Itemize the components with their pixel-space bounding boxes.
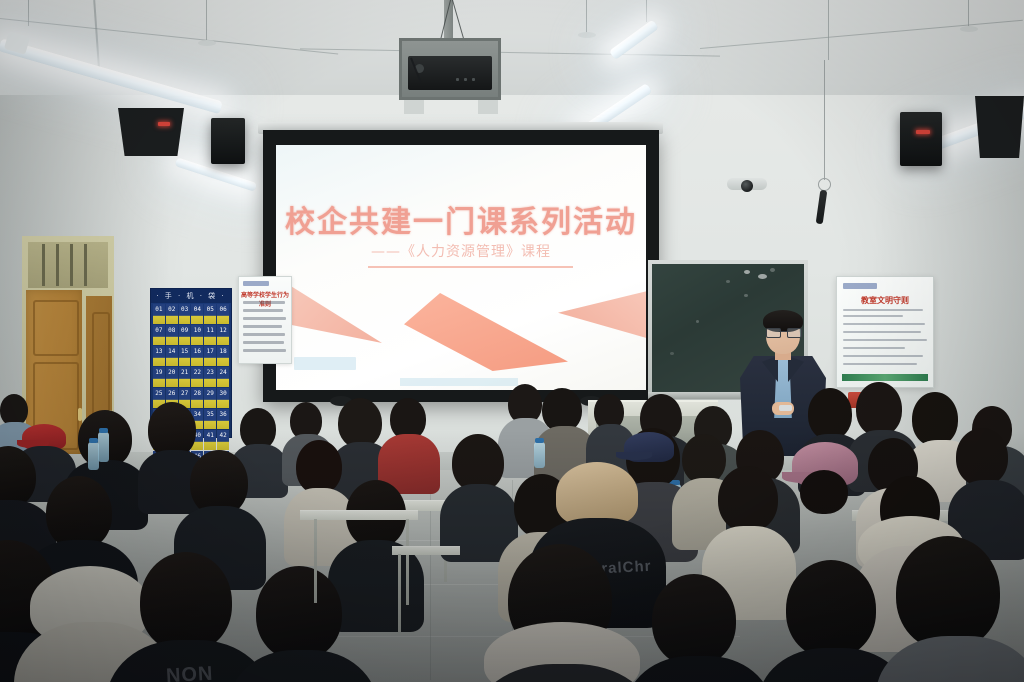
chalk-mark bbox=[670, 352, 674, 355]
poster-line bbox=[243, 301, 285, 304]
projector-cage-foot bbox=[404, 100, 424, 114]
pocket-slot-number: 16 bbox=[191, 348, 203, 355]
water-bottle bbox=[534, 442, 545, 468]
student-body bbox=[228, 650, 378, 682]
transom-bar bbox=[42, 244, 45, 286]
chalk-mark bbox=[770, 268, 775, 272]
poster-line bbox=[843, 331, 921, 333]
pocket-slot-number: 06 bbox=[217, 306, 229, 313]
pocket-slot-number: 08 bbox=[166, 327, 178, 334]
bottle-cap bbox=[535, 438, 544, 443]
student-desk bbox=[300, 510, 418, 520]
audience: NaturalChr NON bbox=[0, 380, 1024, 682]
poster-line bbox=[243, 317, 286, 320]
pocket-slot-number: 14 bbox=[166, 348, 178, 355]
pocket-slot-number: 10 bbox=[191, 327, 203, 334]
poster-line bbox=[843, 309, 923, 311]
slide-divider bbox=[368, 266, 573, 268]
speaker-led-indicator bbox=[158, 122, 170, 126]
poster-line bbox=[243, 325, 282, 328]
beanie bbox=[556, 462, 638, 526]
pocket-slot: 04 bbox=[191, 304, 203, 324]
student-head bbox=[912, 392, 958, 446]
pocket-slot-number: 18 bbox=[217, 348, 229, 355]
student-head bbox=[652, 574, 736, 666]
pocket-slot-number: 23 bbox=[204, 369, 216, 376]
light-suspension-rod bbox=[206, 0, 207, 44]
light-canopy bbox=[198, 40, 216, 46]
student-head bbox=[46, 476, 112, 550]
pocket-slot-number: 19 bbox=[153, 369, 165, 376]
poster-title: 高等学校学生行为准则 bbox=[239, 290, 291, 308]
projection-screen: 校企共建一门课系列活动 ——《人力资源管理》课程 bbox=[276, 145, 646, 390]
water-bottle bbox=[98, 432, 109, 462]
light-suspension-rod bbox=[828, 0, 829, 60]
pocket-slot-number: 04 bbox=[191, 306, 203, 313]
student-body bbox=[626, 656, 772, 682]
pocket-slot-number: 03 bbox=[179, 306, 191, 313]
student-head bbox=[682, 434, 726, 484]
glasses-bridge bbox=[779, 331, 787, 332]
light-suspension-rod bbox=[28, 0, 29, 26]
student-head bbox=[896, 536, 1000, 650]
student-head bbox=[800, 470, 848, 514]
light-suspension-rod bbox=[646, 0, 647, 22]
pocket-slot: 15 bbox=[179, 346, 191, 366]
transom-bar bbox=[56, 244, 59, 286]
pocket-slot-number: 11 bbox=[204, 327, 216, 334]
pocket-slot-number: 01 bbox=[153, 306, 165, 313]
pocket-slot: 03 bbox=[179, 304, 191, 324]
poster-line bbox=[843, 315, 903, 317]
pocket-slot-number: 07 bbox=[153, 327, 165, 334]
pocket-slot: 13 bbox=[153, 346, 165, 366]
chalk-mark bbox=[744, 270, 750, 274]
slide-title: 校企共建一门课系列活动 bbox=[276, 197, 646, 241]
pocket-slot: 09 bbox=[179, 325, 191, 345]
pocket-slot-number: 20 bbox=[166, 369, 178, 376]
speaker-led-indicator bbox=[916, 130, 930, 134]
pocket-slot: 11 bbox=[204, 325, 216, 345]
slide-footer-chip bbox=[294, 357, 356, 370]
poster-line bbox=[243, 309, 283, 312]
wall-speaker-right-2 bbox=[975, 96, 1024, 158]
pocket-slot-number: 02 bbox=[166, 306, 178, 313]
projector-vent bbox=[456, 78, 459, 81]
pocket-slot: 10 bbox=[191, 325, 203, 345]
pocket-slot-number: 21 bbox=[179, 369, 191, 376]
light-suspension-rod bbox=[586, 0, 587, 36]
pocket-slot: 16 bbox=[191, 346, 203, 366]
poster-line bbox=[843, 323, 925, 325]
pocket-slot-number: 12 bbox=[217, 327, 229, 334]
classroom-etiquette-poster: 教室文明守则 bbox=[836, 276, 934, 388]
hoodie-graphic-text: NON bbox=[165, 663, 214, 682]
pocket-slot-number: 17 bbox=[204, 348, 216, 355]
ceiling-projector bbox=[408, 56, 492, 90]
poster-line bbox=[843, 339, 927, 341]
student-head bbox=[256, 566, 342, 660]
slide-shape-triangle-right bbox=[558, 287, 646, 343]
student-head bbox=[296, 440, 342, 494]
slide-shape-triangle-center bbox=[404, 293, 568, 371]
pocket-slot-number: 09 bbox=[179, 327, 191, 334]
pocket-slot: 12 bbox=[217, 325, 229, 345]
light-canopy bbox=[578, 32, 596, 38]
projector-cage-foot bbox=[478, 100, 498, 114]
transom-bar bbox=[84, 244, 87, 286]
student-head bbox=[718, 466, 778, 532]
bottle-cap bbox=[89, 438, 98, 443]
student-head bbox=[140, 552, 232, 652]
classroom-photo: 校企共建一门课系列活动 ——《人力资源管理》课程 · 手 · 机 · 袋 · 0… bbox=[0, 0, 1024, 682]
student-head bbox=[338, 398, 382, 448]
chalk-mark bbox=[726, 280, 730, 283]
pocket-slot-number: 13 bbox=[153, 348, 165, 355]
pocket-slot: 08 bbox=[166, 325, 178, 345]
student-desk bbox=[392, 546, 460, 555]
desk-leg bbox=[406, 519, 409, 605]
slide-subtitle: ——《人力资源管理》课程 bbox=[276, 241, 646, 261]
student-conduct-poster: 高等学校学生行为准则 bbox=[238, 276, 292, 364]
bottle-cap bbox=[99, 428, 108, 433]
student-head bbox=[808, 388, 852, 440]
wall-speaker-left bbox=[118, 108, 184, 156]
pocket-slot: 17 bbox=[204, 346, 216, 366]
student-head bbox=[856, 382, 902, 436]
cap-brim bbox=[616, 452, 652, 460]
wall-speaker-left-2 bbox=[211, 118, 245, 164]
projector-vent bbox=[464, 78, 467, 81]
pocket-slot-number: 22 bbox=[191, 369, 203, 376]
student-head bbox=[786, 560, 876, 658]
poster-line bbox=[243, 333, 285, 336]
pocket-slot: 14 bbox=[166, 346, 178, 366]
pocket-slot-number: 24 bbox=[217, 369, 229, 376]
desk-leg bbox=[398, 554, 401, 632]
glasses-lens bbox=[787, 328, 802, 338]
transom-bar bbox=[70, 244, 73, 286]
door-panel bbox=[33, 300, 79, 356]
school-logo-icon bbox=[243, 281, 269, 286]
chalk-mark bbox=[744, 294, 748, 297]
poster-line bbox=[243, 341, 284, 344]
pocket-slot: 06 bbox=[217, 304, 229, 324]
pocket-slot: 07 bbox=[153, 325, 165, 345]
student-head bbox=[956, 428, 1008, 486]
pull-cord bbox=[824, 60, 825, 180]
poster-line bbox=[843, 363, 917, 365]
projector-vent bbox=[472, 78, 475, 81]
pocket-slot: 01 bbox=[153, 304, 165, 324]
chalk-mark bbox=[758, 274, 767, 279]
security-camera-icon bbox=[741, 180, 753, 192]
pocket-slot-number: 15 bbox=[179, 348, 191, 355]
pocket-slot: 02 bbox=[166, 304, 178, 324]
glasses-icon bbox=[766, 328, 800, 336]
poster-line bbox=[843, 355, 923, 357]
poster-line bbox=[843, 347, 905, 349]
poster-line bbox=[243, 349, 286, 352]
wall-speaker-right bbox=[900, 112, 942, 166]
pocket-slot: 05 bbox=[204, 304, 216, 324]
pocket-slot: 18 bbox=[217, 346, 229, 366]
pocket-slot-number: 05 bbox=[204, 306, 216, 313]
door-transom-window bbox=[28, 242, 108, 288]
desk-leg bbox=[314, 519, 317, 603]
pocket-chart-header: · 手 · 机 · 袋 · bbox=[151, 289, 231, 303]
school-logo-icon bbox=[843, 283, 877, 289]
chalk-mark bbox=[696, 320, 699, 323]
glasses-lens bbox=[766, 328, 781, 338]
poster-title: 教室文明守则 bbox=[837, 295, 933, 306]
light-canopy bbox=[960, 26, 978, 32]
cord-ring-icon bbox=[818, 178, 831, 191]
